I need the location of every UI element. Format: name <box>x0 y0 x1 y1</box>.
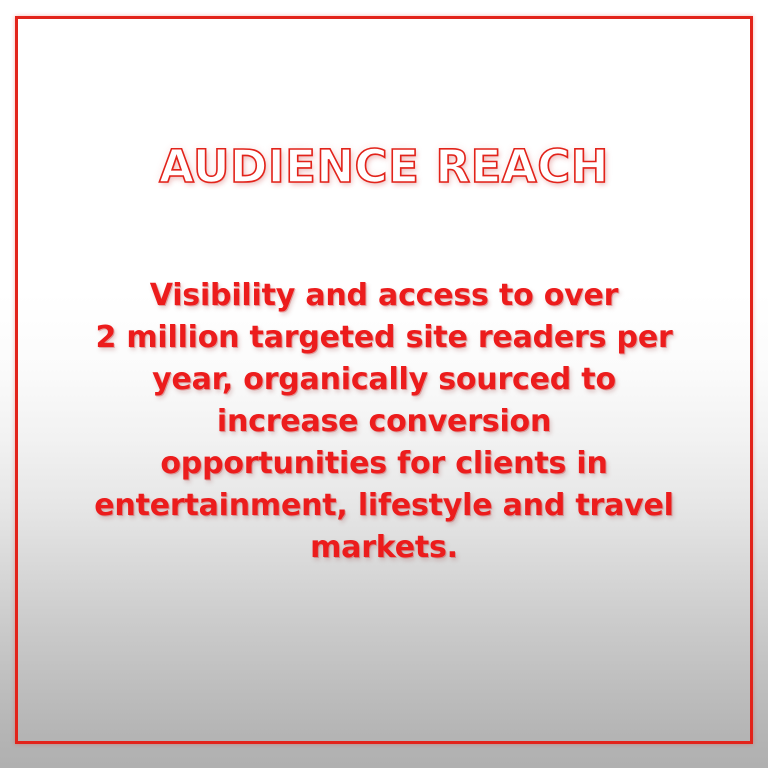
card-content: AUDIENCE REACH Visibility and access to … <box>0 0 768 768</box>
body-description-text: Visibility and access to over 2 million … <box>64 275 704 569</box>
page-title: AUDIENCE REACH <box>0 144 768 189</box>
audience-reach-card: AUDIENCE REACH Visibility and access to … <box>0 0 768 768</box>
